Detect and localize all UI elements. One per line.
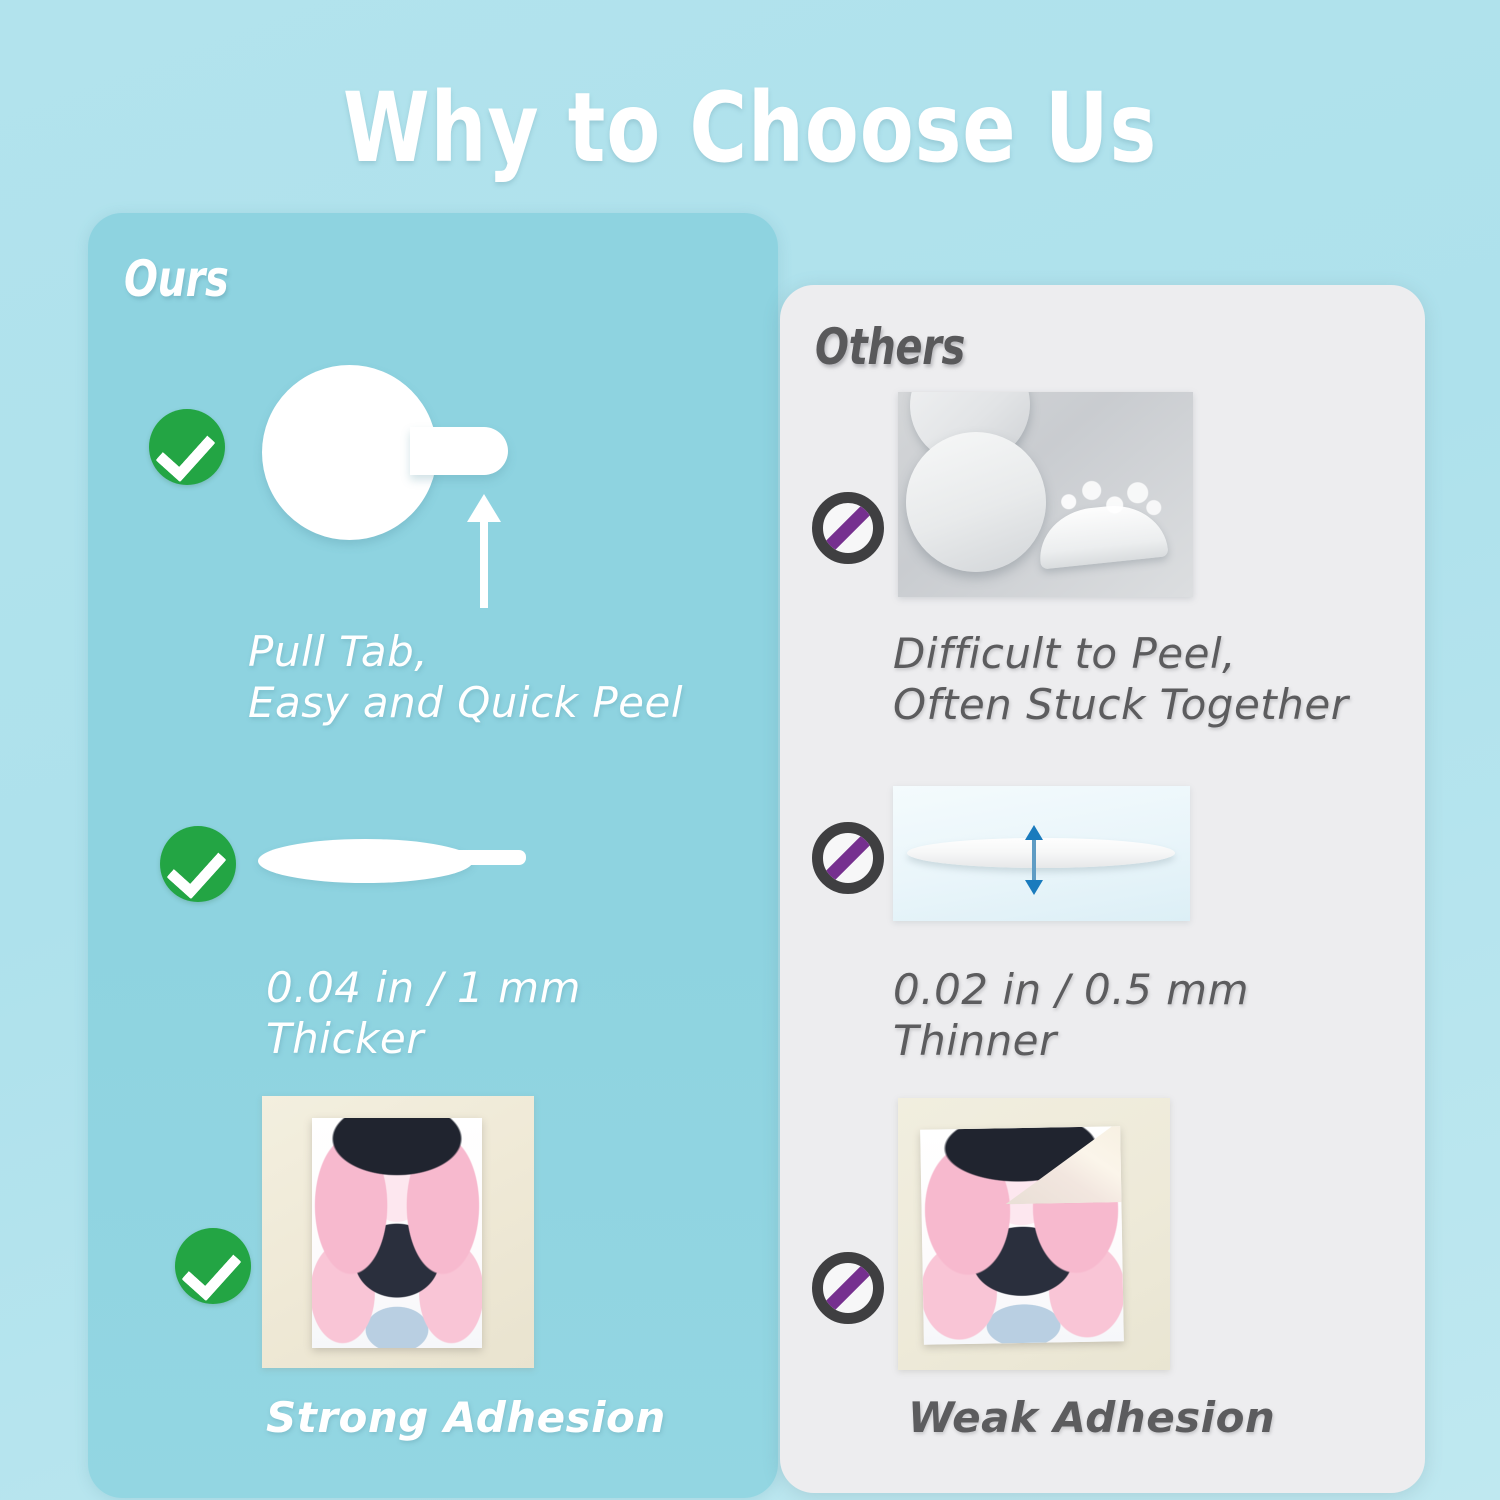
no-entry-slash-icon [812, 1252, 884, 1324]
arrow-up-icon [480, 518, 488, 608]
check-circle-icon [175, 1228, 251, 1304]
thick-disc-shape [258, 839, 473, 883]
others-caption-adhesion: Weak Adhesion [908, 1392, 1275, 1443]
stuck-disc-lower [906, 432, 1046, 572]
others-stuck-discs-photo [898, 392, 1193, 597]
ours-poster-photo [262, 1096, 534, 1368]
check-circle-icon [160, 826, 236, 902]
poster-artwork [312, 1118, 482, 1348]
no-entry-slash-icon [812, 822, 884, 894]
others-caption-peel: Difficult to Peel, Often Stuck Together [893, 628, 1349, 730]
others-poster-photo [898, 1098, 1170, 1370]
pull-tab-shape [410, 427, 508, 475]
infographic-stage: Why to Choose Us Ours Pull Tab, Easy and… [0, 0, 1500, 1500]
ours-caption-thickness: 0.04 in / 1 mm Thicker [266, 962, 581, 1064]
others-thin-disc-photo [893, 786, 1190, 921]
stuck-film-scraps [1048, 477, 1163, 522]
thin-disc-shape [907, 838, 1175, 868]
profile-pull-tab-shape [458, 850, 526, 865]
poster-sheet [312, 1118, 482, 1348]
others-panel-label: Others [815, 318, 965, 376]
others-caption-thickness: 0.02 in / 0.5 mm Thinner [893, 964, 1249, 1066]
page-title: Why to Choose Us [135, 78, 1365, 179]
no-entry-slash-icon [812, 492, 884, 564]
ours-caption-pull-tab: Pull Tab, Easy and Quick Peel [248, 626, 683, 728]
thick-disc-side-profile-figure [258, 833, 528, 891]
poster-sheet [920, 1126, 1124, 1344]
check-circle-icon [149, 409, 225, 485]
ours-panel-label: Ours [124, 250, 228, 308]
double-arrow-vertical-icon [1032, 838, 1036, 882]
ours-caption-adhesion: Strong Adhesion [266, 1392, 666, 1443]
